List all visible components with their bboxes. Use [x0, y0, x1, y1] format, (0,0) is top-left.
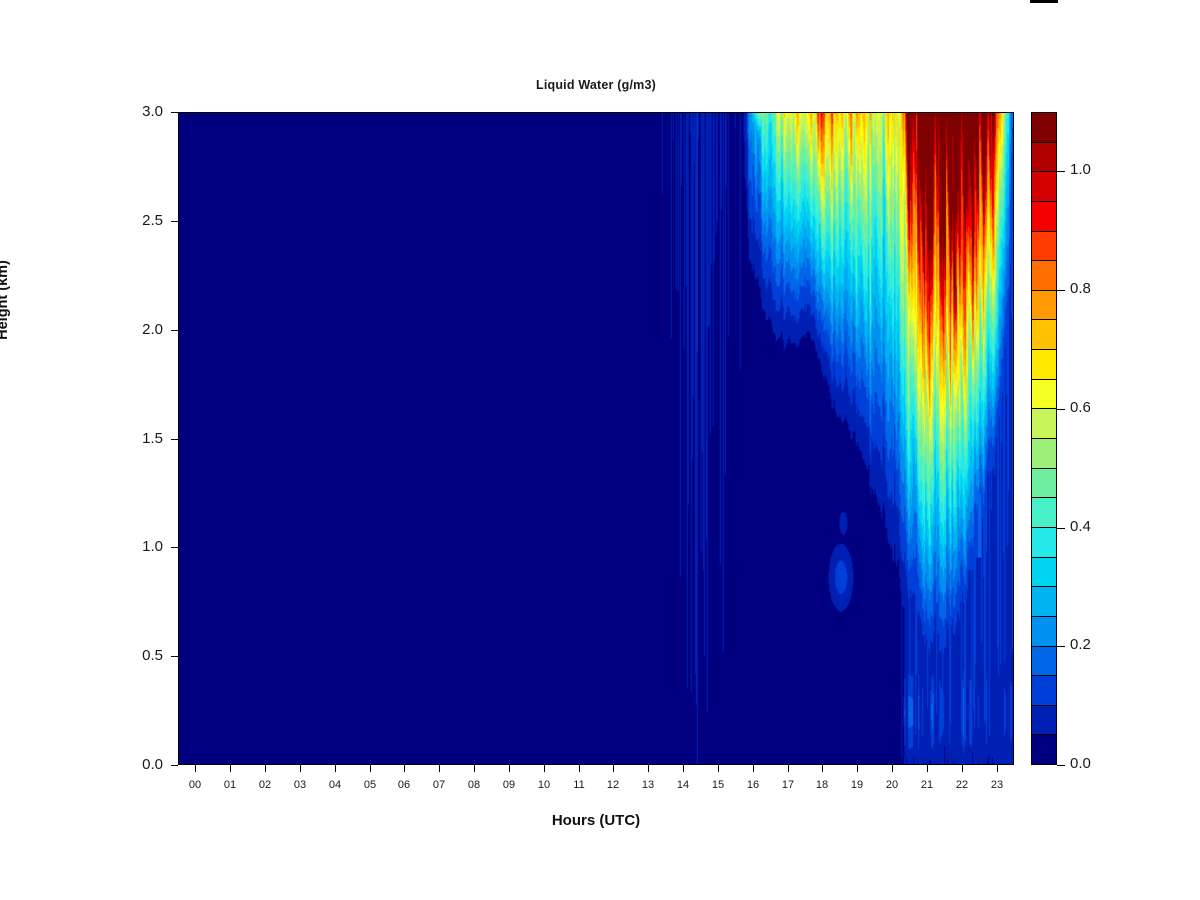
y-tick-mark — [171, 765, 178, 766]
colorbar-band — [1032, 498, 1056, 528]
colorbar-band — [1032, 350, 1056, 380]
colorbar-band — [1032, 469, 1056, 499]
x-tick-mark — [753, 765, 754, 772]
x-tick-mark — [474, 765, 475, 772]
x-tick-mark — [509, 765, 510, 772]
colorbar — [1031, 112, 1057, 765]
x-tick-mark — [718, 765, 719, 772]
y-axis-label: Height (km) — [0, 200, 11, 400]
y-tick-label: 1.0 — [103, 538, 163, 555]
y-tick-label: 2.0 — [103, 321, 163, 338]
colorbar-band — [1032, 617, 1056, 647]
x-tick-mark — [579, 765, 580, 772]
x-tick-label: 14 — [668, 779, 698, 791]
heatmap-field — [179, 113, 1013, 764]
x-tick-label: 09 — [494, 779, 524, 791]
y-tick-label: 1.5 — [103, 430, 163, 447]
x-tick-label: 06 — [389, 779, 419, 791]
colorbar-band — [1032, 232, 1056, 262]
colorbar-tick-mark — [1057, 765, 1065, 766]
colorbar-band — [1032, 202, 1056, 232]
colorbar-band — [1032, 528, 1056, 558]
x-tick-label: 18 — [807, 779, 837, 791]
x-tick-label: 23 — [982, 779, 1012, 791]
colorbar-tick-label: 0.6 — [1070, 399, 1091, 416]
x-tick-label: 10 — [529, 779, 559, 791]
x-tick-mark — [997, 765, 998, 772]
x-tick-mark — [370, 765, 371, 772]
colorbar-band — [1032, 143, 1056, 173]
colorbar-tick-label: 1.0 — [1070, 161, 1091, 178]
colorbar-tick-label: 0.2 — [1070, 636, 1091, 653]
y-tick-mark — [171, 221, 178, 222]
x-tick-mark — [230, 765, 231, 772]
x-tick-mark — [265, 765, 266, 772]
colorbar-tick-label: 0.0 — [1070, 755, 1091, 772]
y-tick-mark — [171, 656, 178, 657]
y-tick-label: 0.0 — [103, 756, 163, 773]
x-tick-mark — [927, 765, 928, 772]
colorbar-band — [1032, 113, 1056, 143]
y-tick-mark — [171, 330, 178, 331]
colorbar-band — [1032, 380, 1056, 410]
colorbar-band — [1032, 261, 1056, 291]
x-tick-mark — [857, 765, 858, 772]
colorbar-band — [1032, 409, 1056, 439]
x-axis-label: Hours (UTC) — [178, 812, 1014, 829]
colorbar-tick-mark — [1057, 409, 1065, 410]
x-tick-label: 11 — [564, 779, 594, 791]
y-tick-mark — [171, 547, 178, 548]
x-tick-label: 17 — [773, 779, 803, 791]
y-tick-mark — [171, 112, 178, 113]
x-tick-mark — [788, 765, 789, 772]
y-tick-label: 0.5 — [103, 647, 163, 664]
colorbar-tick-mark — [1057, 290, 1065, 291]
x-tick-mark — [335, 765, 336, 772]
figure-canvas: Liquid Water (g/m3) 3.02.52.01.51.00.50.… — [0, 0, 1200, 900]
x-tick-label: 19 — [842, 779, 872, 791]
colorbar-tick-label: 0.8 — [1070, 280, 1091, 297]
stray-tick-artifact — [1030, 0, 1058, 3]
x-tick-label: 20 — [877, 779, 907, 791]
colorbar-tick-mark — [1057, 171, 1065, 172]
x-tick-mark — [822, 765, 823, 772]
x-tick-mark — [544, 765, 545, 772]
x-tick-mark — [892, 765, 893, 772]
page-title: Liquid Water (g/m3) — [178, 78, 1014, 92]
colorbar-band — [1032, 587, 1056, 617]
x-tick-mark — [683, 765, 684, 772]
y-tick-label: 3.0 — [103, 103, 163, 120]
x-tick-label: 05 — [355, 779, 385, 791]
colorbar-band — [1032, 172, 1056, 202]
colorbar-band — [1032, 320, 1056, 350]
colorbar-tick-mark — [1057, 646, 1065, 647]
heatmap-plot-area — [178, 112, 1014, 765]
colorbar-band — [1032, 676, 1056, 706]
x-tick-label: 22 — [947, 779, 977, 791]
x-tick-mark — [962, 765, 963, 772]
x-tick-label: 00 — [180, 779, 210, 791]
colorbar-band — [1032, 291, 1056, 321]
x-tick-mark — [300, 765, 301, 772]
x-tick-label: 16 — [738, 779, 768, 791]
y-tick-label: 2.5 — [103, 212, 163, 229]
x-tick-label: 21 — [912, 779, 942, 791]
x-tick-label: 12 — [598, 779, 628, 791]
colorbar-tick-mark — [1057, 528, 1065, 529]
colorbar-band — [1032, 735, 1056, 764]
x-tick-label: 02 — [250, 779, 280, 791]
x-tick-label: 03 — [285, 779, 315, 791]
x-tick-mark — [648, 765, 649, 772]
x-tick-label: 07 — [424, 779, 454, 791]
x-tick-mark — [404, 765, 405, 772]
colorbar-tick-label: 0.4 — [1070, 518, 1091, 535]
y-tick-mark — [171, 439, 178, 440]
x-tick-label: 15 — [703, 779, 733, 791]
colorbar-band — [1032, 647, 1056, 677]
x-tick-label: 01 — [215, 779, 245, 791]
x-tick-mark — [613, 765, 614, 772]
x-tick-mark — [439, 765, 440, 772]
x-tick-label: 08 — [459, 779, 489, 791]
colorbar-band — [1032, 439, 1056, 469]
x-tick-label: 04 — [320, 779, 350, 791]
x-tick-mark — [195, 765, 196, 772]
colorbar-band — [1032, 558, 1056, 588]
colorbar-band — [1032, 706, 1056, 736]
x-tick-label: 13 — [633, 779, 663, 791]
